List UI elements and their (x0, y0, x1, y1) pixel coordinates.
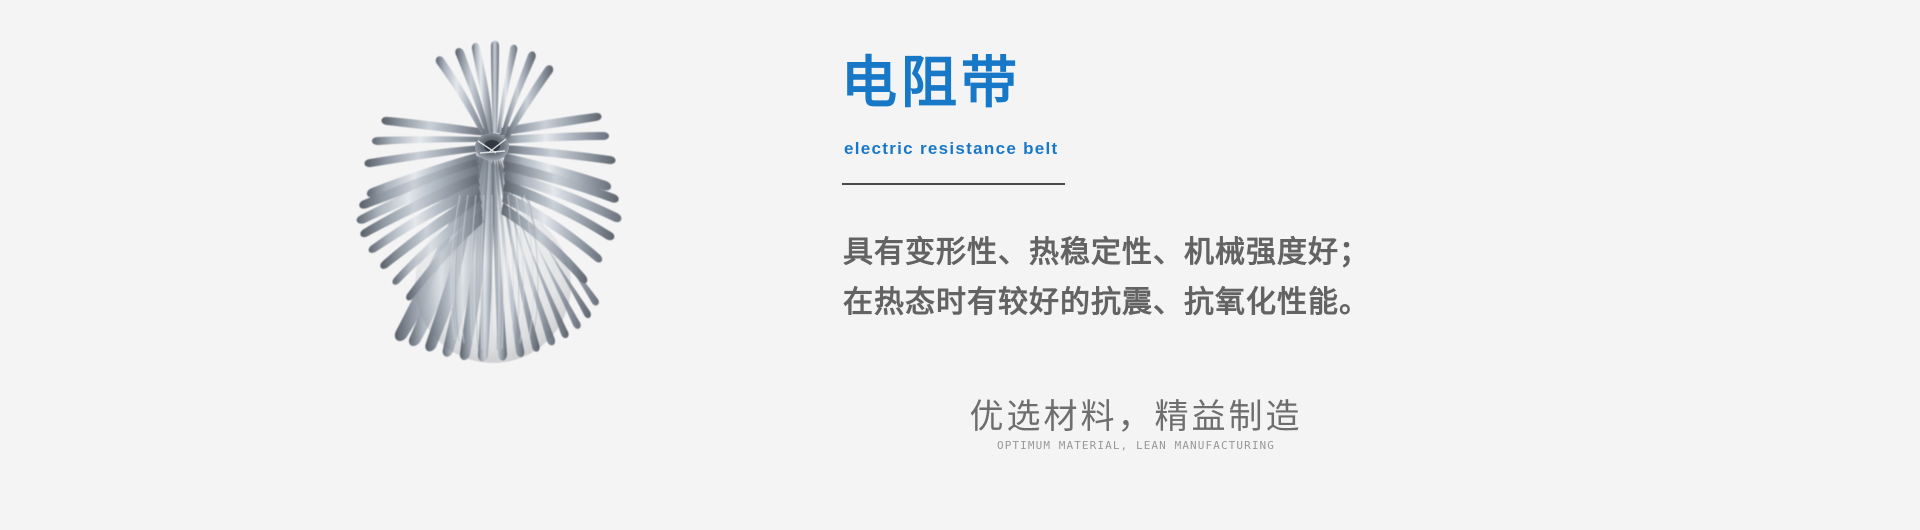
slogan-chinese: 优选材料，精益制造 (926, 398, 1346, 437)
slogan-english: OPTIMUM MATERIAL, LEAN MANUFACTURING (926, 439, 1346, 452)
description-line-1: 具有变形性、热稳定性、机械强度好； (843, 228, 1403, 278)
description-line-2: 在热态时有较好的抗震、抗氧化性能。 (843, 278, 1403, 328)
product-description: 具有变形性、热稳定性、机械强度好； 在热态时有较好的抗震、抗氧化性能。 (843, 228, 1403, 328)
title-divider (842, 183, 1065, 185)
resistance-belt-illustration (300, 35, 680, 385)
page-title: 电阻带 (841, 53, 1021, 115)
product-image (300, 35, 680, 385)
slogan-watermark: 优选材料，精益制造 OPTIMUM MATERIAL, LEAN MANUFAC… (926, 398, 1346, 452)
banner-text-column: 电阻带 electric resistance belt 具有变形性、热稳定性、… (841, 0, 1741, 530)
center-hub (475, 133, 509, 161)
page-subtitle-english: electric resistance belt (844, 139, 1059, 159)
product-banner: 电阻带 electric resistance belt 具有变形性、热稳定性、… (0, 0, 1920, 530)
